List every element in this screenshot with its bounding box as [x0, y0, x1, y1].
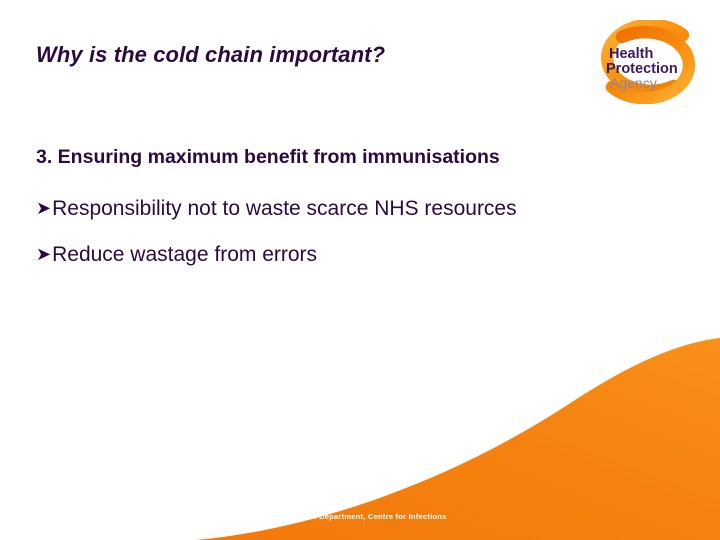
- bullet-text: Reduce wastage from errors: [52, 243, 317, 267]
- section-heading: 3. Ensuring maximum benefit from immunis…: [36, 145, 516, 171]
- bullet-item: ➤ Responsibility not to waste scarce NHS…: [36, 197, 696, 221]
- bullet-text: Responsibility not to waste scarce NHS r…: [52, 197, 517, 221]
- svg-text:Health: Health: [609, 46, 653, 62]
- arrow-bullet-icon: ➤: [36, 200, 51, 218]
- slide-body: 3. Ensuring maximum benefit from immunis…: [36, 145, 696, 289]
- arrow-bullet-icon: ➤: [36, 246, 51, 264]
- slide-footer: Immunisation Department, Centre for Infe…: [265, 512, 447, 521]
- bullet-item: ➤ Reduce wastage from errors: [36, 243, 696, 267]
- slide-canvas: Why is the cold chain important?: [0, 0, 720, 540]
- health-protection-agency-logo: Health Protection Agency: [588, 20, 708, 104]
- svg-text:Agency: Agency: [610, 75, 657, 91]
- slide-title: Why is the cold chain important?: [36, 42, 556, 68]
